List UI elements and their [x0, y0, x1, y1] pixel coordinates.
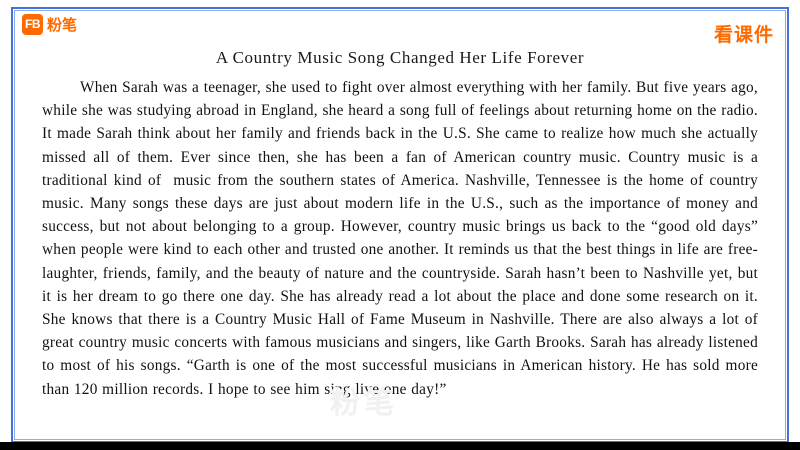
- brand-logo: FB 粉笔: [22, 13, 77, 35]
- watch-courseware-label[interactable]: 看课件: [714, 20, 774, 47]
- page-title: A Country Music Song Changed Her Life Fo…: [0, 48, 800, 68]
- brand-logo-text: 粉笔: [47, 14, 77, 35]
- passage-text: When Sarah was a teenager, she used to f…: [42, 76, 758, 401]
- bottom-bar: [0, 442, 800, 450]
- slide-root: FB 粉笔 看课件 A Country Music Song Changed H…: [0, 0, 800, 450]
- fenbi-logo-icon: FB: [22, 14, 43, 35]
